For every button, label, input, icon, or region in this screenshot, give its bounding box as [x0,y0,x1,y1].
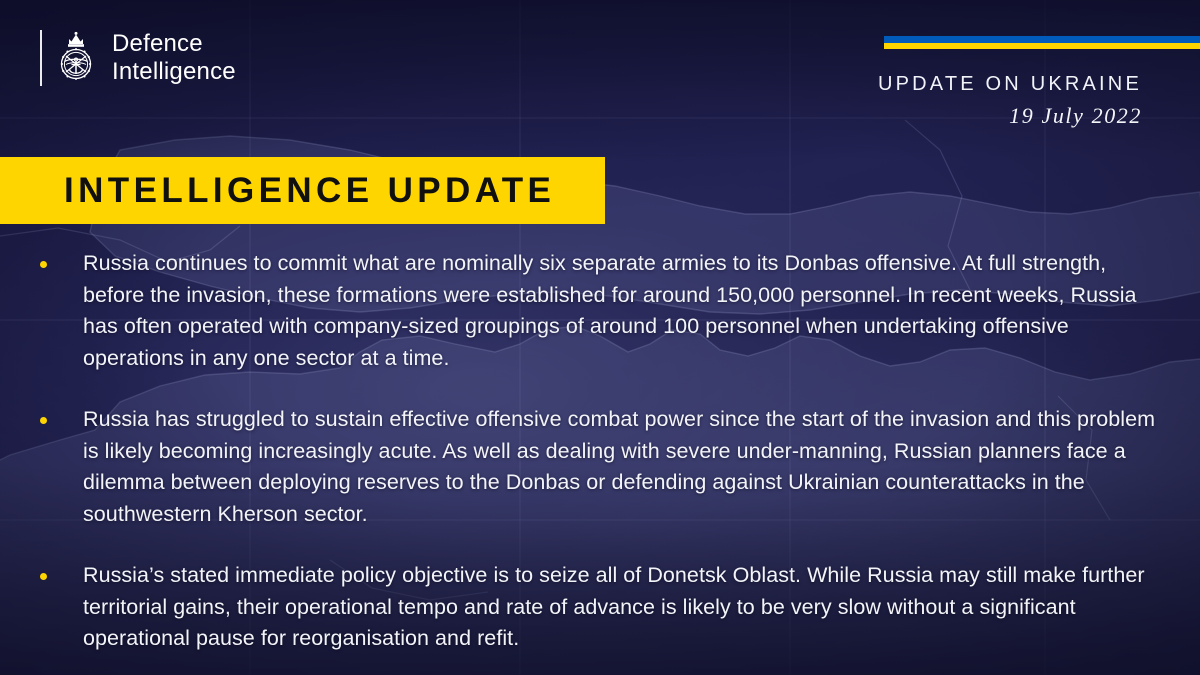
bullet-text: Russia continues to commit what are nomi… [83,248,1158,374]
intelligence-update-banner: INTELLIGENCE UPDATE [0,157,605,224]
flag-blue-stripe [884,36,1200,43]
banner-label: INTELLIGENCE UPDATE [64,171,555,211]
bullet-dot-icon [40,417,47,424]
bullet-dot-icon [40,261,47,268]
update-on-ukraine-title: UPDATE ON UKRAINE [878,72,1142,96]
bullet-list: Russia continues to commit what are nomi… [40,248,1158,655]
defence-intelligence-logo: Defence Intelligence [40,30,236,86]
bullet-text: Russia’s stated immediate policy objecti… [83,560,1158,655]
logo-line-defence: Defence [112,30,236,58]
list-item: Russia continues to commit what are nomi… [40,248,1158,374]
bullet-dot-icon [40,573,47,580]
logo-line-intelligence: Intelligence [112,58,236,86]
ukraine-flag-bar-icon [884,36,1200,49]
flag-yellow-stripe [884,43,1200,49]
vertical-rule-icon [40,30,42,86]
logo-wordmark: Defence Intelligence [112,30,236,86]
royal-crest-icon [53,31,99,85]
header-meta: UPDATE ON UKRAINE 19 July 2022 [878,72,1142,129]
list-item: Russia’s stated immediate policy objecti… [40,560,1158,655]
intelligence-update-graphic: Defence Intelligence UPDATE ON UKRAINE 1… [0,0,1200,675]
update-date: 19 July 2022 [878,103,1142,129]
list-item: Russia has struggled to sustain effectiv… [40,404,1158,530]
bullet-text: Russia has struggled to sustain effectiv… [83,404,1158,530]
